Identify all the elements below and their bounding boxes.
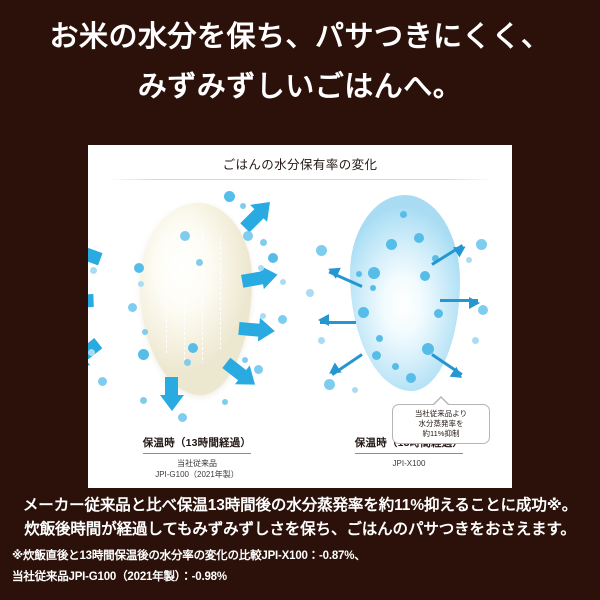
moisture-droplet [324,379,335,390]
retained-droplet [400,211,407,218]
bottom-copy: メーカー従来品と比べ保温13時間後の水分蒸発率を約11%抑えることに成功※。 炊… [0,494,600,542]
suppressed-arrow-down-left-icon [331,353,363,376]
moisture-droplet [466,257,472,263]
retained-droplet [434,309,443,318]
suppressed-arrow-right-icon [440,299,478,302]
moisture-droplet [140,397,147,404]
moisture-droplet [98,377,107,386]
retained-droplet [420,271,430,281]
retained-droplet [376,335,383,342]
suppression-callout: 当社従来品より 水分蒸発率を 約11%抑制 [392,404,490,444]
moisture-droplet [306,289,314,297]
retained-droplet [370,285,376,291]
moisture-droplet [222,399,228,405]
card-divider [108,179,492,180]
callout-line-2: 水分蒸発率を [395,419,487,429]
caption-conventional-sub-line1: 当社従来品 [177,459,217,468]
bottom-copy-line-1: メーカー従来品と比べ保温13時間後の水分蒸発率を約11%抑えることに成功※。 [0,494,600,518]
illustration-conventional [88,181,306,431]
callout-line-3: 約11%抑制 [395,429,487,439]
moisture-droplet [316,245,327,256]
caption-conventional-sub-line2: JPI-G100（2021年製） [155,470,239,479]
moisture-droplet [224,191,235,202]
caption-conventional-main: 保温時（13時間経過） [143,435,251,454]
moisture-droplet [258,265,264,271]
retained-droplet [368,267,380,279]
retained-droplet [392,363,399,370]
footnote-line-2: 当社従来品JPI-G100（2021年製）：-0.98% [12,567,600,588]
caption-new-model-sub: JPI-X100 [306,458,512,469]
panel-conventional: 保温時（13時間経過） 当社従来品 JPI-G100（2021年製） [88,181,306,488]
moisture-droplet [260,239,267,246]
retained-droplet [406,373,416,383]
moisture-droplet [268,253,278,263]
moisture-droplet [242,357,248,363]
moisture-droplet [138,281,144,287]
caption-new-model-sub-line1: JPI-X100 [393,459,426,468]
moisture-droplet [134,263,144,273]
moisture-droplet [88,349,95,356]
moisture-droplet [472,337,479,344]
moisture-droplet [178,413,187,422]
retained-droplet [386,239,397,250]
retained-droplet [372,351,381,360]
moisture-droplet [243,231,253,241]
callout-pointer-fill [433,398,449,406]
moisture-droplet [138,349,149,360]
moisture-droplet [254,365,263,374]
retained-droplet [358,307,369,318]
callout-line-1: 当社従来品より [395,409,487,419]
moisture-droplet [240,203,246,209]
moisture-droplet [280,279,286,285]
headline: お米の水分を保ち、パサつきにくく、 みずみずしいごはんへ。 [0,12,600,112]
moisture-droplet [196,259,203,266]
moisture-droplet [318,337,325,344]
moisture-droplet [180,231,190,241]
footnote-line-1: ※炊飯直後と13時間保温後の水分率の変化の比較JPI-X100：-0.87%、 [12,546,600,567]
moisture-droplet [352,387,358,393]
caption-conventional: 保温時（13時間経過） 当社従来品 JPI-G100（2021年製） [88,433,306,480]
moisture-droplet [188,343,198,353]
bottom-copy-line-2: 炊飯後時間が経過してもみずみずしさを保ち、ごはんのパサつきをおさえます。 [0,518,600,542]
retained-droplet [356,271,362,277]
moisture-droplet [260,313,266,319]
headline-line-2: みずみずしいごはんへ。 [0,62,600,112]
moisture-droplet [128,303,137,312]
moisture-droplet [90,267,97,274]
moisture-droplet [278,315,287,324]
moisture-droplet [184,359,191,366]
caption-conventional-sub: 当社従来品 JPI-G100（2021年製） [88,458,306,480]
headline-line-1: お米の水分を保ち、パサつきにくく、 [0,12,600,62]
card-title: ごはんの水分保有率の変化 [88,154,512,173]
illustration-new-model [306,181,512,431]
moisture-droplet [142,329,148,335]
suppressed-arrow-left-lower-icon [320,321,356,324]
footnotes: ※炊飯直後と13時間保温後の水分率の変化の比較JPI-X100：-0.87%、 … [12,546,600,588]
moisture-droplet [476,239,487,250]
retained-droplet [414,233,424,243]
